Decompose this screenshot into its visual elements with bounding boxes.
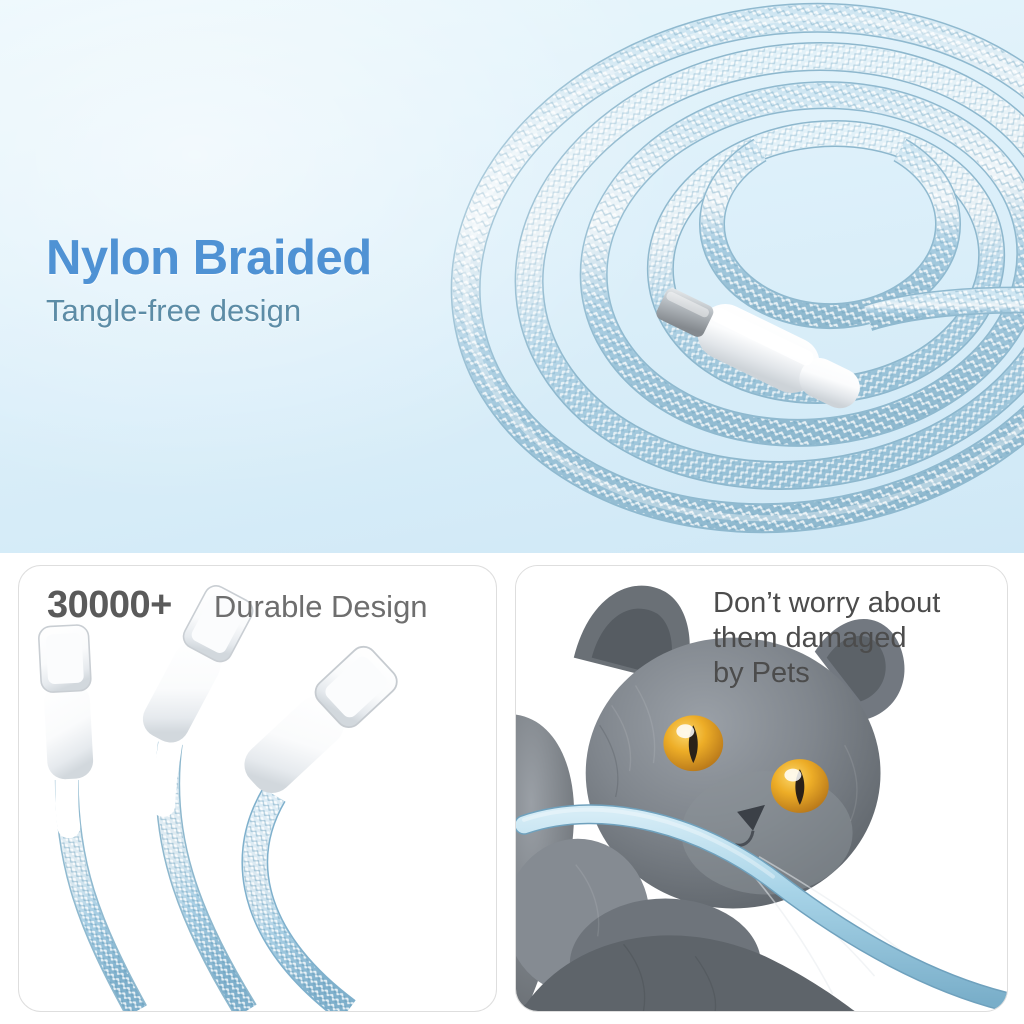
cat-eye-right — [771, 759, 829, 813]
pet-proof-line-2: them damaged — [713, 621, 985, 656]
pet-proof-line-1: Don’t worry about — [713, 586, 985, 621]
durable-design-label: Durable Design — [214, 591, 428, 622]
cat-eye-left — [663, 715, 723, 771]
feature-cards: 30000+ Durable Design — [0, 553, 1024, 1024]
card-pet-proof: Don’t worry about them damaged by Pets — [515, 565, 1008, 1012]
pet-proof-line-3: by Pets — [713, 656, 985, 691]
page-subtitle: Tangle-free design — [46, 294, 372, 328]
durability-count: 30000+ — [47, 586, 172, 624]
card-durable-design: 30000+ Durable Design — [18, 565, 497, 1012]
page-title: Nylon Braided — [46, 233, 372, 285]
pet-proof-heading: Don’t worry about them damaged by Pets — [713, 586, 985, 690]
durable-design-heading: 30000+ Durable Design — [47, 586, 428, 624]
three-cables-illustration — [19, 566, 496, 1011]
hero-panel: Nylon Braided Tangle-free design — [0, 0, 1024, 553]
product-infographic: Nylon Braided Tangle-free design — [0, 0, 1024, 1024]
hero-text-block: Nylon Braided Tangle-free design — [46, 233, 372, 328]
